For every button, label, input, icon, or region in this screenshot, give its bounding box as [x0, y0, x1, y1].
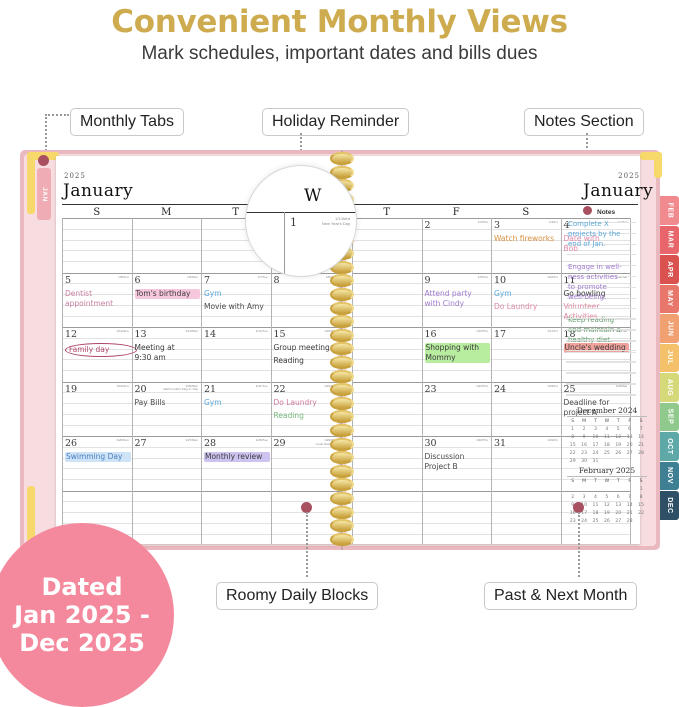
mini-calendar-day: 7 — [624, 494, 635, 502]
weekday-header-s-l: S — [62, 207, 132, 218]
mini-calendar-day: 5 — [613, 426, 624, 434]
month-tab-label: MAY — [666, 290, 673, 307]
mini-calendar-day: 19 — [613, 442, 624, 450]
calendar-day-cell[interactable]: 241/24/Fri — [491, 382, 561, 437]
notes-ruled-line — [566, 308, 636, 309]
notes-ruled-line-lower — [566, 350, 636, 351]
left-page-year: 2025 — [64, 172, 86, 180]
magnifier-rule — [246, 212, 356, 213]
notes-anchor-dot — [583, 206, 592, 215]
mini-calendar-dow: T — [590, 478, 601, 486]
spiral-coil — [330, 274, 354, 287]
spiral-coil — [330, 519, 354, 532]
calendar-day-number: 26 — [65, 438, 77, 449]
notes-ruled-line-lower — [566, 394, 636, 395]
mini-calendar-day: 11 — [601, 434, 612, 442]
notes-entry: Engage in well- ness activities to promo… — [568, 262, 634, 303]
calendar-day-meta: 1/19/Sun — [81, 385, 129, 389]
calendar-day-cell[interactable]: 161/16/ThuShopping with Mommy — [422, 327, 492, 382]
mini-calendar-day: 13 — [624, 434, 635, 442]
month-tab-label: OCT — [666, 438, 673, 455]
calendar-day-number: 31 — [494, 438, 506, 449]
mini-calendar-day: 6 — [624, 426, 635, 434]
spiral-coil — [330, 152, 354, 165]
spiral-coil — [330, 533, 354, 546]
mini-calendar-dow: W — [601, 418, 612, 426]
month-tab-label: APR — [666, 261, 673, 278]
notes-ruled-line-lower — [566, 383, 636, 384]
month-tab-nov[interactable]: NOV — [660, 462, 679, 491]
mini-calendar-day: 6 — [613, 494, 624, 502]
mini-calendar-day: 25 — [590, 518, 601, 526]
calendar-day-number: 10 — [494, 275, 506, 286]
mini-calendar-day — [624, 486, 635, 494]
mini-calendar-day: 12 — [613, 434, 624, 442]
mini-calendar-day: 23 — [567, 518, 578, 526]
calendar-day-meta: 1/25/Sat — [579, 385, 627, 389]
calendar-day-cell[interactable]: 311/31/Fri — [491, 436, 561, 491]
calendar-entry: Dentist appointment — [65, 289, 129, 309]
calendar-day-number: 20 — [135, 384, 147, 395]
notes-header: Notes — [597, 209, 615, 216]
mini-calendar-day: 18 — [601, 442, 612, 450]
notes-ruled-line-lower — [566, 329, 636, 330]
notes-ruled-line-lower — [566, 318, 636, 319]
weekday-header-m-l: M — [132, 207, 202, 218]
mini-calendar-day: 24 — [590, 450, 601, 458]
notes-ruled-line — [566, 384, 636, 385]
month-tab-oct[interactable]: OCT — [660, 432, 679, 461]
calendar-day-cell[interactable]: 231/23/Thu — [422, 382, 492, 437]
callout-holiday-reminder: Holiday Reminder — [262, 108, 409, 136]
month-tab-label: JUN — [666, 320, 673, 336]
calendar-day-meta: 1/3/Fri — [510, 221, 558, 225]
mini-calendar-week: 1234567 — [567, 426, 647, 434]
mini-calendar-day: 8 — [567, 434, 578, 442]
mini-calendar-day — [613, 486, 624, 494]
mini-calendar-day: 18 — [590, 510, 601, 518]
calendar-day-meta: 1/13/Mon — [150, 330, 198, 334]
calendar-day-cell[interactable]: 211/21/TueGym — [201, 382, 271, 437]
callout-leader-monthly-tabs — [45, 114, 47, 154]
calendar-entry: Pay Bills — [135, 398, 199, 408]
mini-calendar-day: 4 — [590, 494, 601, 502]
mini-calendar-day: 5 — [601, 494, 612, 502]
mini-calendar-day: 19 — [601, 510, 612, 518]
mini-calendar-dow: W — [601, 478, 612, 486]
calendar-day-cell[interactable]: 131/13/MonMeeting at 9:30 am — [132, 327, 202, 382]
calendar-day-meta: 1/20/Mon Martin Luther King Jr. Day — [150, 385, 198, 393]
holiday-reminder-magnifier: W 1 1/1/Wed New Year's Day — [245, 165, 357, 277]
mini-calendar-day: 3 — [578, 494, 589, 502]
mini-calendar-week: 1 — [567, 486, 647, 494]
spiral-coil — [330, 329, 354, 342]
calendar-entry: Shopping with Mommy — [425, 343, 491, 363]
mini-calendar-day: 12 — [601, 502, 612, 510]
left-page-month: January — [63, 181, 133, 201]
calendar-entry: Group meeting — [274, 343, 338, 353]
month-tab-label: NOV — [666, 467, 673, 484]
mini-calendar-day: 20 — [613, 510, 624, 518]
calendar-day-meta: 1/31/Fri — [510, 439, 558, 443]
calendar-day-cell[interactable]: 31/3/FriWatch fireworks — [491, 218, 561, 273]
right-page-rule — [352, 204, 638, 205]
month-tab-feb[interactable]: FEB — [660, 196, 679, 225]
notes-ruled-line — [566, 395, 636, 396]
calendar-day-number: 3 — [494, 220, 500, 231]
mini-calendar-dow: S — [567, 478, 578, 486]
callout-notes-section: Notes Section — [524, 108, 644, 136]
calendar-day-meta: 1/5/Sun — [81, 276, 129, 280]
calendar-day-cell[interactable]: 261/26/SunSwimming Day — [62, 436, 132, 491]
calendar-day-meta: 1/23/Thu — [440, 385, 488, 389]
mini-calendar-day: 22 — [635, 510, 646, 518]
mini-calendar-day: 31 — [590, 458, 601, 466]
month-tab-label: SEP — [666, 409, 673, 425]
spiral-coil — [330, 478, 354, 491]
magnifier-weekday: W — [304, 186, 321, 206]
calendar-day-meta: 1/10/Fri — [510, 276, 558, 280]
calendar-day-meta: 1/21/Tue — [220, 385, 268, 389]
calendar-day-number: 17 — [494, 329, 506, 340]
mini-calendar-day: 23 — [578, 450, 589, 458]
calendar-day-number: 29 — [274, 438, 286, 449]
calendar-day-number: 19 — [65, 384, 77, 395]
spiral-coil — [330, 506, 354, 519]
mini-calendar-dow: M — [578, 478, 589, 486]
calendar-day-meta: 1/30/Thu — [440, 439, 488, 443]
mini-calendar-dow: T — [613, 418, 624, 426]
mini-calendar-day: 15 — [567, 442, 578, 450]
mini-calendar-day — [601, 458, 612, 466]
mini-calendar-day: 26 — [613, 450, 624, 458]
calendar-day-number: 21 — [204, 384, 216, 395]
mini-calendar-dow: T — [590, 418, 601, 426]
notes-ruled-line-lower — [566, 361, 636, 362]
mini-calendar-dow: S — [635, 478, 646, 486]
mini-calendar-week: 293031 — [567, 458, 647, 466]
mini-calendar-day: 21 — [635, 442, 646, 450]
mini-calendar-day — [590, 486, 601, 494]
mini-calendar-day: 29 — [567, 458, 578, 466]
mini-calendar-day: 27 — [613, 518, 624, 526]
calendar-entry: Attend party with Cindy — [425, 289, 489, 309]
mini-calendar-week: 22232425262728 — [567, 450, 647, 458]
mini-calendar-day — [635, 518, 646, 526]
calendar-entry: Reading — [274, 356, 338, 366]
mini-calendar-day: 1 — [635, 486, 646, 494]
calendar-day-cell[interactable]: 171/17/Fri — [491, 327, 561, 382]
month-tab-jan[interactable]: JAN — [37, 168, 51, 220]
calendar-day-cell[interactable]: 121/12/SunFamily day — [62, 327, 132, 382]
magnifier-holiday-name: New Year's Day — [322, 221, 350, 226]
calendar-day-number: 15 — [274, 329, 286, 340]
mini-calendar-day: 16 — [578, 442, 589, 450]
mini-calendar-dow-row: SMTWTFS — [567, 418, 647, 426]
notes-ruled-line — [566, 373, 636, 374]
calendar-day-number: 16 — [425, 329, 437, 340]
mini-calendar-day — [601, 486, 612, 494]
mini-calendar-dow: M — [578, 418, 589, 426]
tab-anchor-dot — [38, 155, 49, 166]
spiral-coil — [330, 383, 354, 396]
spiral-coil — [330, 451, 354, 464]
month-tab-label: JUL — [666, 350, 673, 365]
calendar-day-cell[interactable]: 201/20/Mon Martin Luther King Jr. DayPay… — [132, 382, 202, 437]
spiral-coil — [330, 370, 354, 383]
weekday-header-t-r: T — [352, 207, 422, 218]
right-page-month: January — [583, 181, 653, 201]
mini-calendar-day — [567, 486, 578, 494]
mini-calendar: December 2024SMTWTFS12345678910111213141… — [567, 406, 647, 466]
dated-range-badge: Dated Jan 2025 - Dec 2025 — [0, 523, 174, 707]
callout-leader-monthly-tabs-h — [45, 114, 69, 116]
month-tab-apr[interactable]: APR — [660, 255, 679, 284]
calendar-day-number: 8 — [274, 275, 280, 286]
calendar-day-number: 5 — [65, 275, 71, 286]
calendar-day-number: 13 — [135, 329, 147, 340]
calendar-entry: Watch fireworks — [494, 234, 558, 244]
calendar-day-cell[interactable]: 301/30/ThuDiscussion Project B — [422, 436, 492, 491]
mini-calendar-day: 8 — [635, 494, 646, 502]
callout-roomy-daily-blocks: Roomy Daily Blocks — [216, 582, 378, 610]
calendar-entry: Swimming Day — [65, 452, 131, 462]
month-tab-label: MAR — [666, 231, 673, 249]
month-tab-mar[interactable]: MAR — [660, 226, 679, 255]
calendar-day-meta: 1/26/Sun — [81, 439, 129, 443]
calendar-day-meta: 1/9/Thu — [440, 276, 488, 280]
calendar-day-meta: 1/28/Tue — [220, 439, 268, 443]
mini-calendar-day: 24 — [578, 518, 589, 526]
calendar-day-number: 6 — [135, 275, 141, 286]
month-tab-label: AUG — [666, 379, 673, 396]
calendar-day-number: 2 — [425, 220, 431, 231]
mini-calendar-day: 11 — [590, 502, 601, 510]
mini-calendar-week: 891011121314 — [567, 434, 647, 442]
month-tab-dec[interactable]: DEC — [660, 491, 679, 520]
calendar-day-cell[interactable]: 91/9/ThuAttend party with Cindy — [422, 273, 492, 328]
mini-calendar-week: 15161718192021 — [567, 442, 647, 450]
mini-calendar-day: 17 — [590, 442, 601, 450]
mini-calendar-day: 4 — [601, 426, 612, 434]
month-tab-sep[interactable]: SEP — [660, 403, 679, 432]
month-tab-jun[interactable]: JUN — [660, 314, 679, 343]
mini-calendar-day: 20 — [624, 442, 635, 450]
yellow-corner-left — [27, 152, 35, 214]
yellow-corner-right — [654, 152, 662, 178]
mini-calendar-day: 21 — [624, 510, 635, 518]
calendar-day-number: 22 — [274, 384, 286, 395]
calendar-day-meta: 1/17/Fri — [510, 330, 558, 334]
spiral-coil — [330, 315, 354, 328]
calendar-entry: Gym — [204, 289, 268, 299]
dated-range-text: Dated Jan 2025 - Dec 2025 — [14, 573, 150, 658]
calendar-day-cell[interactable]: 21/2/Thu — [422, 218, 492, 273]
magnifier-divider — [284, 212, 285, 276]
mini-calendar-day: 13 — [613, 502, 624, 510]
weekday-header-f-r: F — [422, 207, 492, 218]
calendar-day-cell[interactable]: 71/7/TueGymMovie with Amy — [201, 273, 271, 328]
calendar-day-cell[interactable]: 61/6/MonTom's birthday — [132, 273, 202, 328]
mini-calendar-dow: T — [613, 478, 624, 486]
month-tab-aug[interactable]: AUG — [660, 373, 679, 402]
calendar-day-cell[interactable]: 51/5/SunDentist appointment — [62, 273, 132, 328]
calendar-day-cell[interactable]: 271/27/Mon — [132, 436, 202, 491]
mini-calendar-dow: F — [624, 418, 635, 426]
spiral-coil — [330, 397, 354, 410]
magnifier-day-number: 1 — [290, 216, 297, 229]
calendar-entry: Do Laundry — [274, 398, 338, 408]
page-subtitle: Mark schedules, important dates and bill… — [0, 43, 679, 65]
notes-ruled-line — [566, 362, 636, 363]
notes-ruled-line-lower — [566, 340, 636, 341]
calendar-entry: Reading — [274, 411, 338, 421]
mini-calendar-day: 2 — [567, 494, 578, 502]
mini-calendar-day: 14 — [624, 502, 635, 510]
calendar-entry: Family day — [65, 343, 137, 357]
mini-calendar-day: 22 — [567, 450, 578, 458]
calendar-entry: Movie with Amy — [204, 302, 268, 312]
right-page-year: 2025 — [614, 172, 640, 180]
month-tab-label: DEC — [666, 497, 673, 514]
calendar-day-number: 23 — [425, 384, 437, 395]
mini-calendar-day: 14 — [635, 434, 646, 442]
mini-calendar-day — [624, 458, 635, 466]
calendar-day-number: 28 — [204, 438, 216, 449]
calendar-day-number: 12 — [65, 329, 77, 340]
calendar-day-cell[interactable]: 101/10/FriGymDo Laundry — [491, 273, 561, 328]
callout-past-next-month: Past & Next Month — [484, 582, 637, 610]
month-tab-label: FEB — [666, 202, 673, 218]
calendar-day-cell[interactable]: 191/19/Sun — [62, 382, 132, 437]
calendar-day-number: 24 — [494, 384, 506, 395]
mini-calendar-day: 26 — [601, 518, 612, 526]
calendar-day-number: 7 — [204, 275, 210, 286]
calendar-entry: Discussion Project B — [425, 452, 489, 472]
calendar-day-meta: 1/27/Mon — [150, 439, 198, 443]
notes-ruled-line-lower — [566, 372, 636, 373]
mini-calendar-day — [613, 458, 624, 466]
mini-calendar-day — [578, 486, 589, 494]
mini-calendar-day — [635, 458, 646, 466]
calendar-entry: Tom's birthday — [135, 289, 201, 299]
mini-calendar-day: 2 — [578, 426, 589, 434]
mini-calendar-title: December 2024 — [567, 406, 647, 417]
calendar-entry: Gym — [494, 289, 558, 299]
calendar-entry: Monthly review — [204, 452, 270, 462]
mini-calendar-day: 25 — [601, 450, 612, 458]
month-tab-may[interactable]: MAY — [660, 285, 679, 314]
mini-calendar-day: 27 — [624, 450, 635, 458]
calendar-entry: Gym — [204, 398, 268, 408]
magnifier-holiday-meta: 1/1/Wed New Year's Day — [322, 216, 350, 226]
calendar-day-meta: 1/24/Fri — [510, 385, 558, 389]
spiral-coil — [330, 302, 354, 315]
mini-calendar-dow: F — [624, 478, 635, 486]
spiral-coil — [330, 342, 354, 355]
calendar-day-meta: 1/2/Thu — [440, 221, 488, 225]
calendar-day-cell[interactable]: 281/28/TueMonthly review — [201, 436, 271, 491]
calendar-entry: Meeting at 9:30 am — [135, 343, 199, 363]
calendar-day-meta: 1/6/Mon — [150, 276, 198, 280]
mini-calendar-day: 28 — [635, 450, 646, 458]
mini-calendar-day: 28 — [624, 518, 635, 526]
callout-leader-pastnext — [578, 512, 580, 577]
spiral-coil — [330, 356, 354, 369]
calendar-day-number: 14 — [204, 329, 216, 340]
notes-ruled-line — [566, 352, 636, 353]
notes-entry: Complete X projects by the end of Jan. — [568, 219, 634, 249]
mini-calendar-day: 30 — [578, 458, 589, 466]
weekday-header-s-r: S — [491, 207, 561, 218]
calendar-day-number: 30 — [425, 438, 437, 449]
mini-calendar-day: 1 — [567, 426, 578, 434]
mini-calendar-dow: S — [635, 418, 646, 426]
calendar-day-meta: 1/14/Tue — [220, 330, 268, 334]
mini-calendar-title: February 2025 — [567, 466, 647, 477]
mini-calendar-dow: S — [567, 418, 578, 426]
calendar-day-meta: 1/16/Thu — [440, 330, 488, 334]
mini-calendar-day: 9 — [578, 434, 589, 442]
spiral-coil — [330, 492, 354, 505]
mini-calendar-day: 10 — [590, 434, 601, 442]
mini-calendar-dow-row: SMTWTFS — [567, 478, 647, 486]
callout-leader-daily — [306, 512, 308, 577]
spiral-coil — [330, 288, 354, 301]
month-tab-jul[interactable]: JUL — [660, 344, 679, 373]
calendar-day-meta: 1/7/Tue — [220, 276, 268, 280]
callout-monthly-tabs: Monthly Tabs — [70, 108, 184, 136]
mini-calendar-week: 2345678 — [567, 494, 647, 502]
calendar-entry: Do Laundry — [494, 302, 558, 312]
notes-ruled-line — [566, 254, 636, 255]
spiral-coil — [330, 438, 354, 451]
spiral-coil — [330, 410, 354, 423]
mini-calendar-day: 15 — [635, 502, 646, 510]
mini-calendar-day: 3 — [590, 426, 601, 434]
calendar-day-number: 9 — [425, 275, 431, 286]
calendar-day-cell[interactable]: 141/14/Tue — [201, 327, 271, 382]
mini-calendar-day: 7 — [635, 426, 646, 434]
spiral-coil — [330, 424, 354, 437]
spiral-coil — [330, 465, 354, 478]
calendar-day-number: 27 — [135, 438, 147, 449]
page-title: Convenient Monthly Views — [0, 4, 679, 40]
calendar-day-meta: 1/12/Sun — [81, 330, 129, 334]
